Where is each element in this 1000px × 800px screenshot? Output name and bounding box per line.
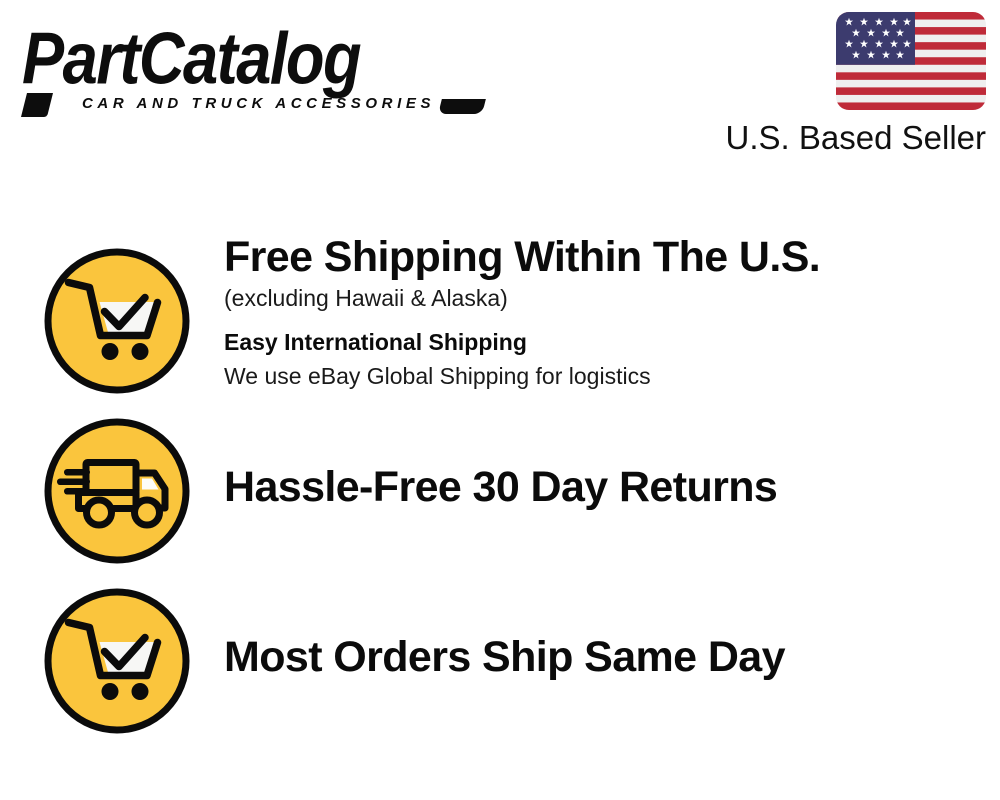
feature-text-block: Free Shipping Within The U.S. (excluding… bbox=[192, 232, 1000, 393]
feature-title: Most Orders Ship Same Day bbox=[224, 632, 1000, 682]
feature-subtitle: (excluding Hawaii & Alaska) bbox=[224, 282, 1000, 315]
shopping-cart-check-icon bbox=[42, 586, 192, 736]
logo-swoosh-right-icon bbox=[438, 99, 486, 114]
brand-logo: PartCatalog CAR AND TRUCK ACCESSORIES bbox=[22, 22, 492, 112]
feature-subtitle-bold: Easy International Shipping bbox=[224, 326, 1000, 359]
brand-tagline: CAR AND TRUCK ACCESSORIES bbox=[82, 95, 435, 112]
brand-wordmark: PartCatalog bbox=[22, 22, 501, 98]
feature-title: Hassle-Free 30 Day Returns bbox=[224, 462, 1000, 512]
promo-banner: PartCatalog CAR AND TRUCK ACCESSORIES bbox=[0, 0, 1000, 800]
us-based-seller-label: U.S. Based Seller bbox=[600, 118, 986, 158]
feature-list: Free Shipping Within The U.S. (excluding… bbox=[0, 232, 1000, 742]
feature-row: Most Orders Ship Same Day bbox=[0, 572, 1000, 742]
feature-text-block: Most Orders Ship Same Day bbox=[192, 632, 1000, 682]
delivery-truck-icon bbox=[42, 416, 192, 566]
feature-row: Hassle-Free 30 Day Returns bbox=[0, 402, 1000, 572]
feature-subtitle-detail: We use eBay Global Shipping for logistic… bbox=[224, 360, 1000, 393]
feature-text-block: Hassle-Free 30 Day Returns bbox=[192, 462, 1000, 512]
feature-row: Free Shipping Within The U.S. (excluding… bbox=[0, 232, 1000, 402]
us-flag-icon bbox=[836, 12, 986, 110]
shopping-cart-check-icon bbox=[42, 246, 192, 396]
logo-swoosh-left-icon bbox=[21, 93, 53, 117]
feature-title: Free Shipping Within The U.S. bbox=[224, 232, 1000, 282]
brand-tagline-row: CAR AND TRUCK ACCESSORIES bbox=[24, 95, 492, 117]
